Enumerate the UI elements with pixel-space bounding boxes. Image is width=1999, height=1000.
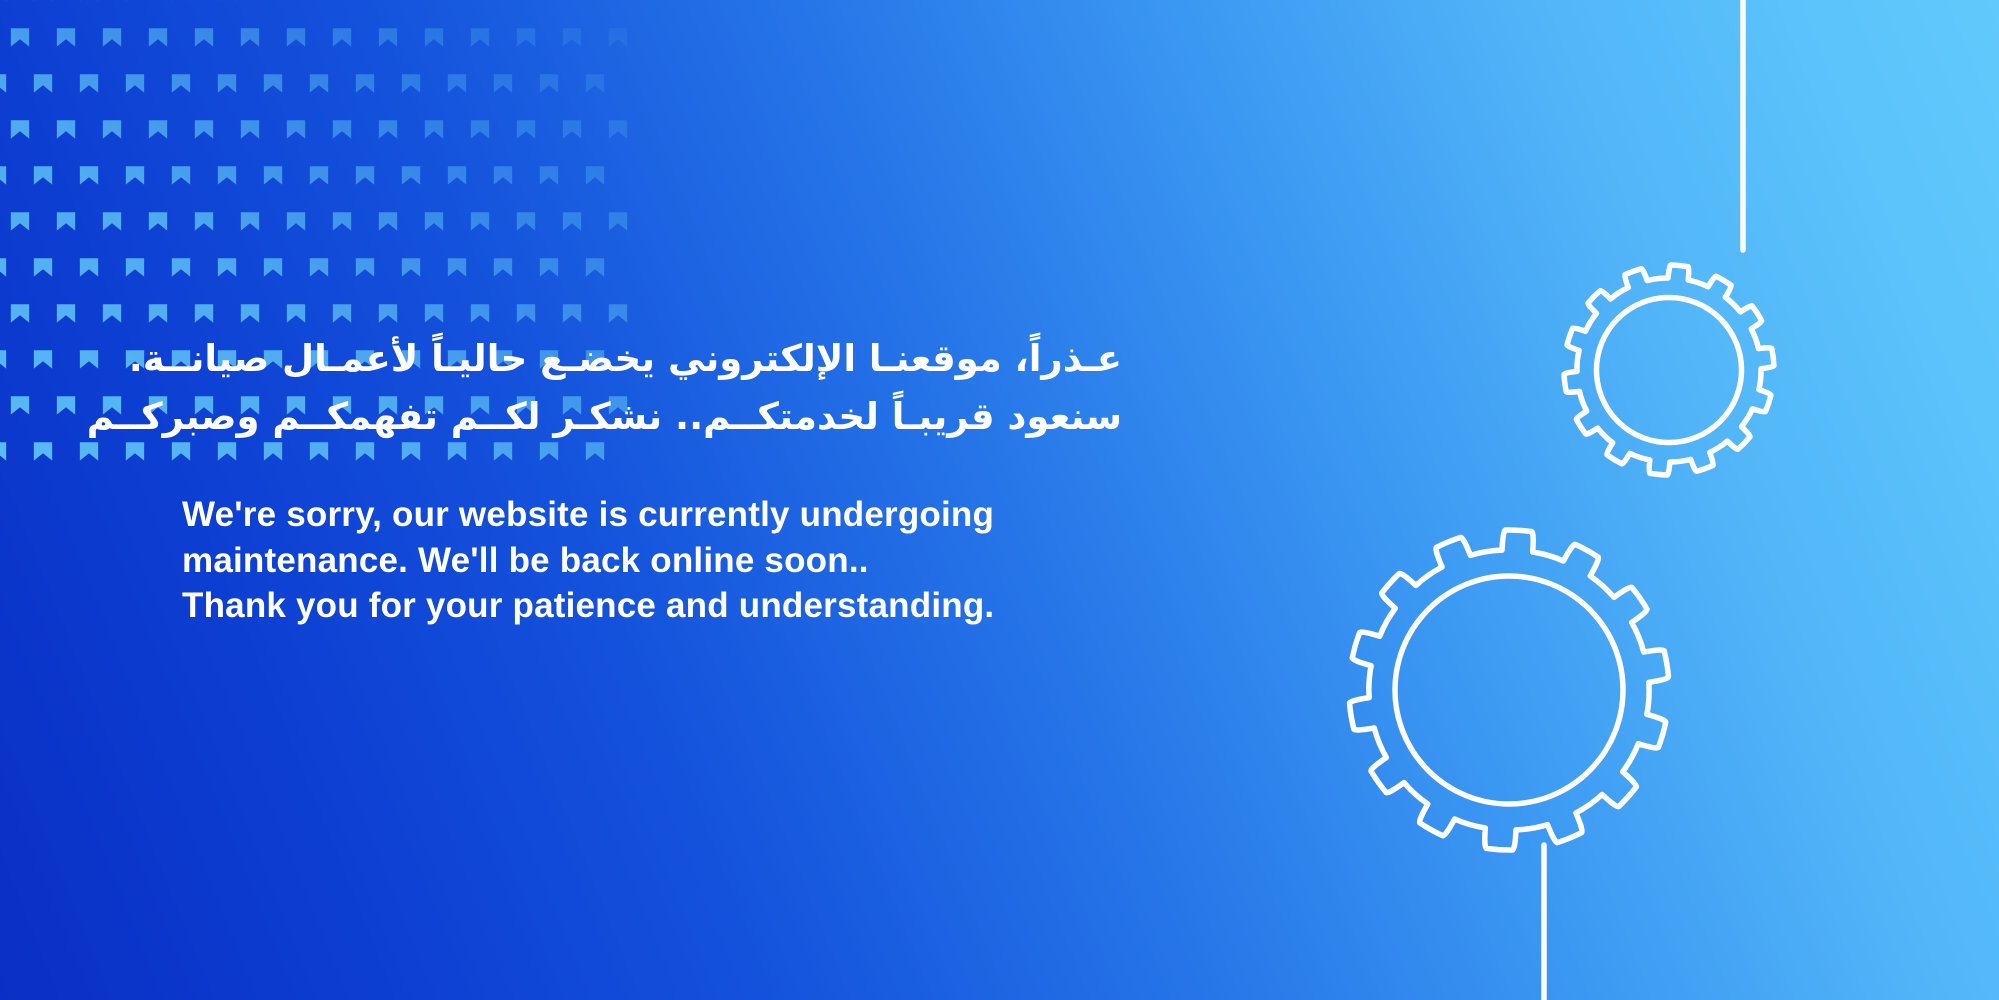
large-gear-outline — [1350, 530, 1669, 850]
small-gear-outline — [1564, 265, 1774, 475]
large-gear-inner-circle — [1395, 576, 1623, 804]
english-line-2: maintenance. We'll be back online soon.. — [182, 538, 1182, 584]
maintenance-message: عـذراً، موقعنـا الإلكتروني يخضـع حاليـاً… — [182, 330, 1182, 629]
english-message: We're sorry, our website is currently un… — [182, 492, 1182, 629]
english-line-3: Thank you for your patience and understa… — [182, 583, 1182, 629]
english-line-1: We're sorry, our website is currently un… — [182, 492, 1182, 538]
gear-artwork — [1099, 0, 1999, 1000]
maintenance-page: عـذراً، موقعنـا الإلكتروني يخضـع حاليـاً… — [0, 0, 1999, 1000]
small-gear-inner-circle — [1596, 297, 1741, 442]
arabic-line-2: سنعود قريبـاً لخدمتكــم.. نشكـر لكــم تف… — [182, 388, 1122, 446]
arabic-message: عـذراً، موقعنـا الإلكتروني يخضـع حاليـاً… — [182, 330, 1122, 446]
arabic-line-1: عـذراً، موقعنـا الإلكتروني يخضـع حاليـاً… — [182, 330, 1122, 388]
